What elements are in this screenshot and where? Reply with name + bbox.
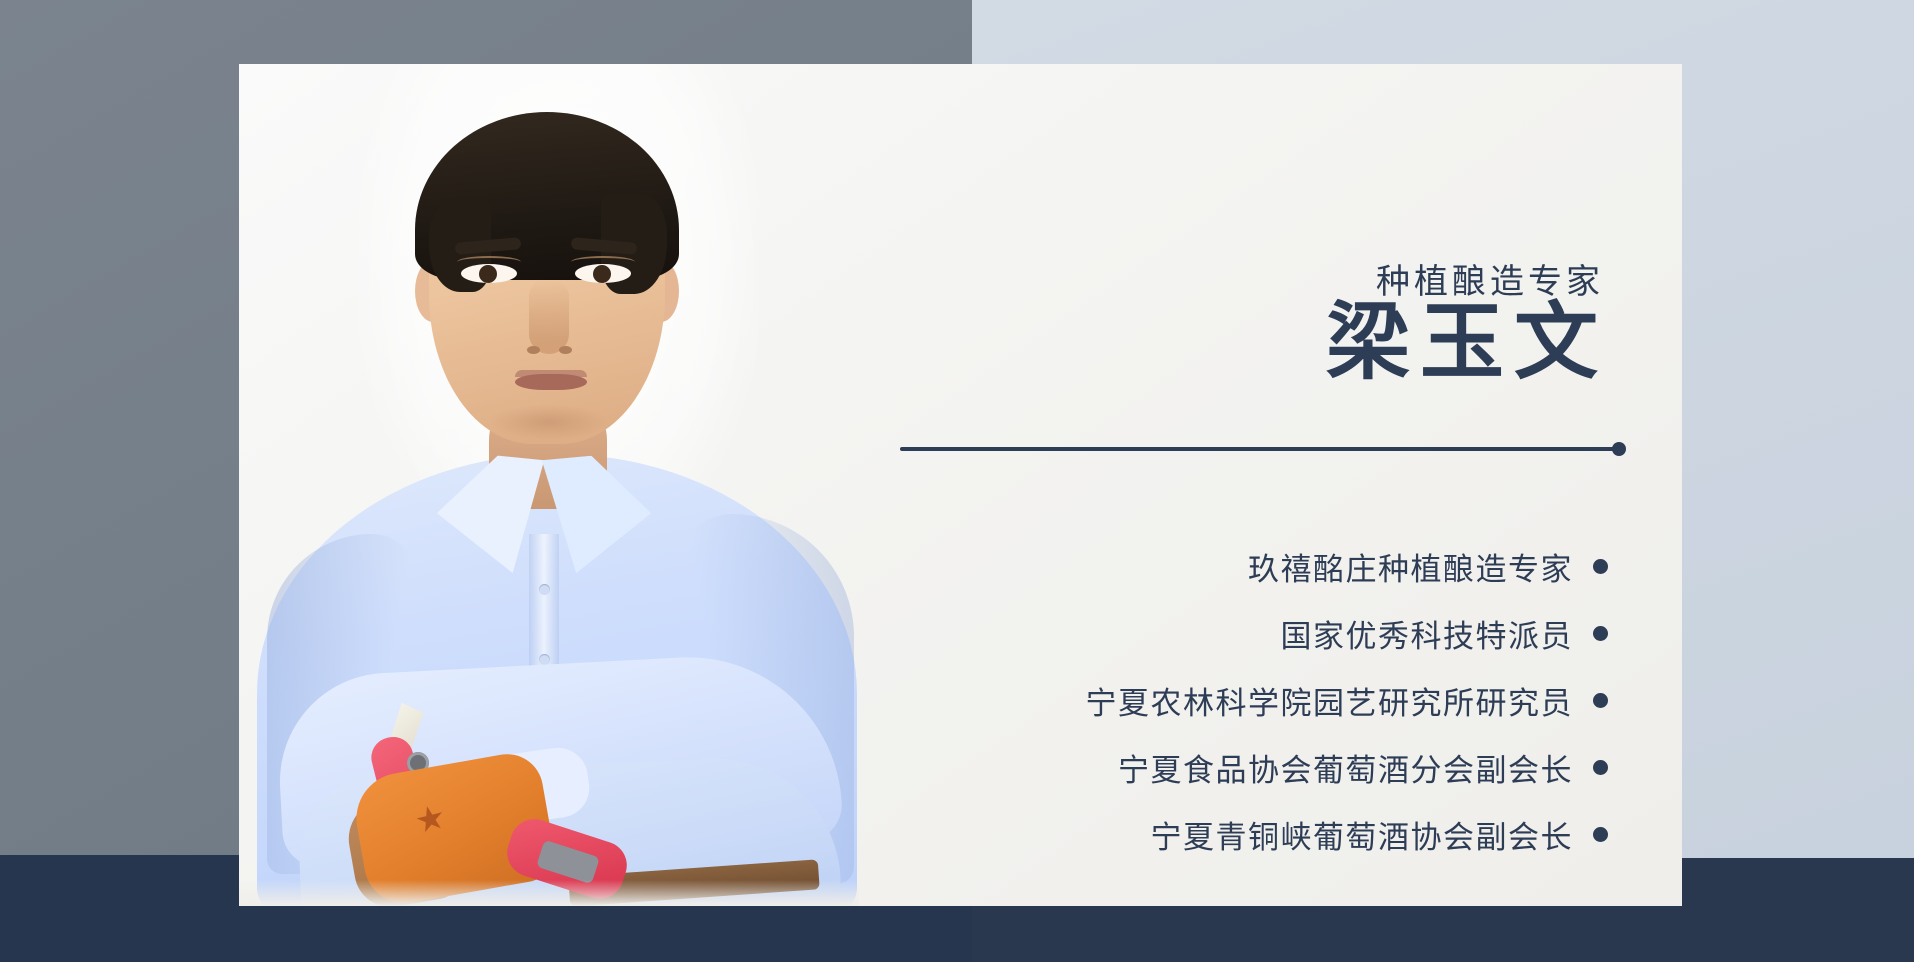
card-text-column: 种植酿造专家 梁玉文 玖禧酩庄种植酿造专家 国家优秀科技特派员 宁夏农林科学院园… [859,64,1682,906]
portrait-nostril-left [527,346,540,354]
portrait-chin-shadow [489,404,609,440]
credentials-list: 玖禧酩庄种植酿造专家 国家优秀科技特派员 宁夏农林科学院园艺研究所研究员 宁夏食… [848,544,1608,857]
credential-label: 宁夏农林科学院园艺研究所研究员 [1086,678,1574,723]
portrait-bottom-fade [239,880,859,906]
portrait-mouth [515,374,587,390]
divider-end-dot [1612,442,1626,456]
background-white-edge-right [1914,0,1920,970]
expert-name: 梁玉文 [1326,300,1608,388]
bullet-dot-icon [1593,827,1608,842]
portrait-shirt-button [539,654,550,665]
list-item: 宁夏农林科学院园艺研究所研究员 [1086,678,1609,723]
list-item: 玖禧酩庄种植酿造专家 [1248,544,1608,589]
list-item: 国家优秀科技特派员 [1281,611,1609,656]
portrait-eyelid-right [571,256,635,268]
list-item: 宁夏食品协会葡萄酒分会副会长 [1118,745,1608,790]
portrait-nostril-right [559,346,572,354]
credential-label: 玖禧酩庄种植酿造专家 [1248,544,1573,589]
list-item: 宁夏青铜峡葡萄酒协会副会长 [1151,812,1609,857]
poster-stage: ★ 种植酿造专家 梁玉文 玖禧酩庄种植酿造专家 国家优秀科技特派员 [0,0,1920,970]
bullet-dot-icon [1593,626,1608,641]
credential-label: 国家优秀科技特派员 [1281,611,1574,656]
background-white-edge-bottom [0,962,1920,970]
bullet-dot-icon [1593,760,1608,775]
portrait-eyelid-left [457,256,521,268]
portrait-shirt-button [539,584,550,595]
credential-label: 宁夏青铜峡葡萄酒协会副会长 [1151,812,1574,857]
profile-card: ★ 种植酿造专家 梁玉文 玖禧酩庄种植酿造专家 国家优秀科技特派员 [239,64,1682,906]
bullet-dot-icon [1593,559,1608,574]
credential-label: 宁夏食品协会葡萄酒分会副会长 [1118,745,1573,790]
bullet-dot-icon [1593,693,1608,708]
expert-portrait-photo: ★ [239,64,859,906]
portrait-nose [529,280,569,354]
expert-subtitle: 种植酿造专家 [1376,254,1604,303]
divider-line [900,447,1620,451]
